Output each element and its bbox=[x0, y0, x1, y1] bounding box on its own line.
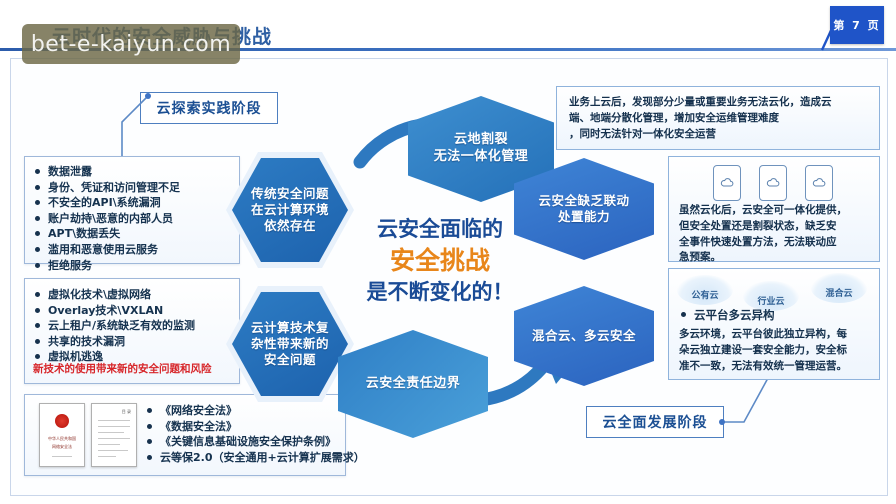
hex-line: 安全问题 bbox=[251, 352, 329, 368]
hex-line: 云计算技术复 bbox=[251, 320, 329, 336]
document-cybersecurity-law-cover: 中华人民共和国 网络安全法 bbox=[39, 403, 85, 467]
page-number-badge: 第 7 页 bbox=[830, 6, 884, 44]
list-item: 虚拟化技术\虚拟网络 bbox=[33, 287, 239, 303]
hex-line: 无法一体化管理 bbox=[434, 149, 529, 166]
list-item: 拒绝服务 bbox=[33, 258, 239, 274]
infobox-cloud-ground-fragmentation: 业务上云后，发现部分少量或重要业务无法云化，造成云 端、地端分散化管理，增加安全… bbox=[556, 86, 880, 150]
hex-line: 云安全缺乏联动 bbox=[538, 193, 629, 209]
list-item: 云平台多云异构 bbox=[679, 307, 775, 323]
infobox-line: 多云环境，云平台彼此独立异构，每 bbox=[679, 327, 847, 343]
cloud-card-icon-2 bbox=[759, 165, 787, 201]
doc-cover-line-2: 网络安全法 bbox=[52, 444, 72, 450]
cloud-label-public: 公有云 bbox=[677, 275, 733, 305]
callout-left-leader-line bbox=[108, 92, 154, 162]
hex-line: 处置能力 bbox=[538, 209, 629, 225]
cloud-label-hybrid: 混合云 bbox=[811, 273, 867, 303]
list-item: 数据泄露 bbox=[33, 164, 239, 180]
infobox-multicloud-heterogeneity: 公有云 行业云 混合云 云平台多云异构 多云环境，云平台彼此独立异构，每 朵云独… bbox=[668, 268, 880, 380]
list-item: 《关键信息基础设施安全保护条例》 bbox=[145, 434, 345, 450]
center-headline-line-3: 是不断变化的！ bbox=[362, 279, 518, 306]
list-item: 共享的技术漏洞 bbox=[33, 334, 239, 350]
tech-risks-warning-note: 新技术的使用带来新的安全问题和风险 bbox=[33, 361, 212, 376]
panel-technology-risks: 虚拟化技术\虚拟网络 Overlay技术\VXLAN 云上租户/系统缺乏有效的监… bbox=[24, 278, 240, 384]
doc-contents-title: 目 录 bbox=[122, 409, 131, 415]
infobox-lack-of-linked-response: 虽然云化后，云安全可一体化提供， 但安全处置还是割裂状态，缺乏安 全事件快速处置… bbox=[668, 156, 880, 262]
hex-line: 杂性带来新的 bbox=[251, 336, 329, 352]
center-headline-line-2: 安全挑战 bbox=[370, 245, 510, 278]
hex-line: 云地割裂 bbox=[434, 132, 529, 149]
infobox-line: 全事件快速处置方法，无法联动应 bbox=[679, 235, 847, 251]
hex-line: 传统安全问题 bbox=[251, 186, 329, 202]
list-item: 身份、凭证和访问管理不足 bbox=[33, 180, 239, 196]
list-item: 滥用和恶意使用云服务 bbox=[33, 242, 239, 258]
center-headline-line-1: 云安全面临的 bbox=[370, 216, 510, 243]
infobox-line: 但安全处置还是割裂状态，缺乏安 bbox=[679, 219, 847, 235]
hex-line: 在云计算环境 bbox=[251, 202, 329, 218]
list-item: APT\数据丢失 bbox=[33, 226, 239, 242]
hex-line: 依然存在 bbox=[251, 218, 329, 234]
infobox-line: 端、地端分散化管理，增加安全运维管理难度 bbox=[569, 111, 832, 127]
callout-right-leader-line bbox=[718, 372, 778, 426]
infobox-line: ，同时无法针对一体化安全运营 bbox=[569, 127, 832, 143]
document-contents-page: 目 录 bbox=[91, 403, 137, 467]
panel-traditional-risks: 数据泄露 身份、凭证和访问管理不足 不安全的API\系统漏洞 账户劫持\恶意的内… bbox=[24, 156, 240, 264]
header-divider bbox=[0, 48, 896, 51]
infobox-line: 急预案。 bbox=[679, 250, 847, 266]
callout-cloud-exploration-phase: 云探索实践阶段 bbox=[140, 92, 278, 124]
infobox-line: 准不一致，无法有效统一管理运营。 bbox=[679, 359, 847, 375]
cloud-card-icon-3 bbox=[805, 165, 833, 201]
list-item: 云等保2.0（安全通用+云计算扩展需求） bbox=[145, 450, 345, 466]
hex-line: 混合云、多云安全 bbox=[532, 328, 636, 344]
infobox-line: 朵云独立建设一套安全能力，安全标 bbox=[679, 343, 847, 359]
slide-canvas: 云时代的安全威胁与挑战 第 7 页 云探索实践阶段 云全面发展阶段 数据泄露 身… bbox=[0, 0, 896, 504]
cloud-card-icon-1 bbox=[713, 165, 741, 201]
list-item: 不安全的API\系统漏洞 bbox=[33, 195, 239, 211]
hex-line: 云安全责任边界 bbox=[366, 376, 461, 393]
list-item: 账户劫持\恶意的内部人员 bbox=[33, 211, 239, 227]
infobox-line: 虽然云化后，云安全可一体化提供， bbox=[679, 203, 847, 219]
list-item: Overlay技术\VXLAN bbox=[33, 303, 239, 319]
panel-regulations: 中华人民共和国 网络安全法 目 录 《网络安全法》 《数据安全法》 《关键信息基… bbox=[24, 394, 346, 476]
doc-cover-line-1: 中华人民共和国 bbox=[48, 436, 76, 442]
page-title: 云时代的安全威胁与挑战 bbox=[52, 22, 272, 49]
infobox-line: 业务上云后，发现部分少量或重要业务无法云化，造成云 bbox=[569, 95, 832, 111]
list-item: 云上租户/系统缺乏有效的监测 bbox=[33, 318, 239, 334]
